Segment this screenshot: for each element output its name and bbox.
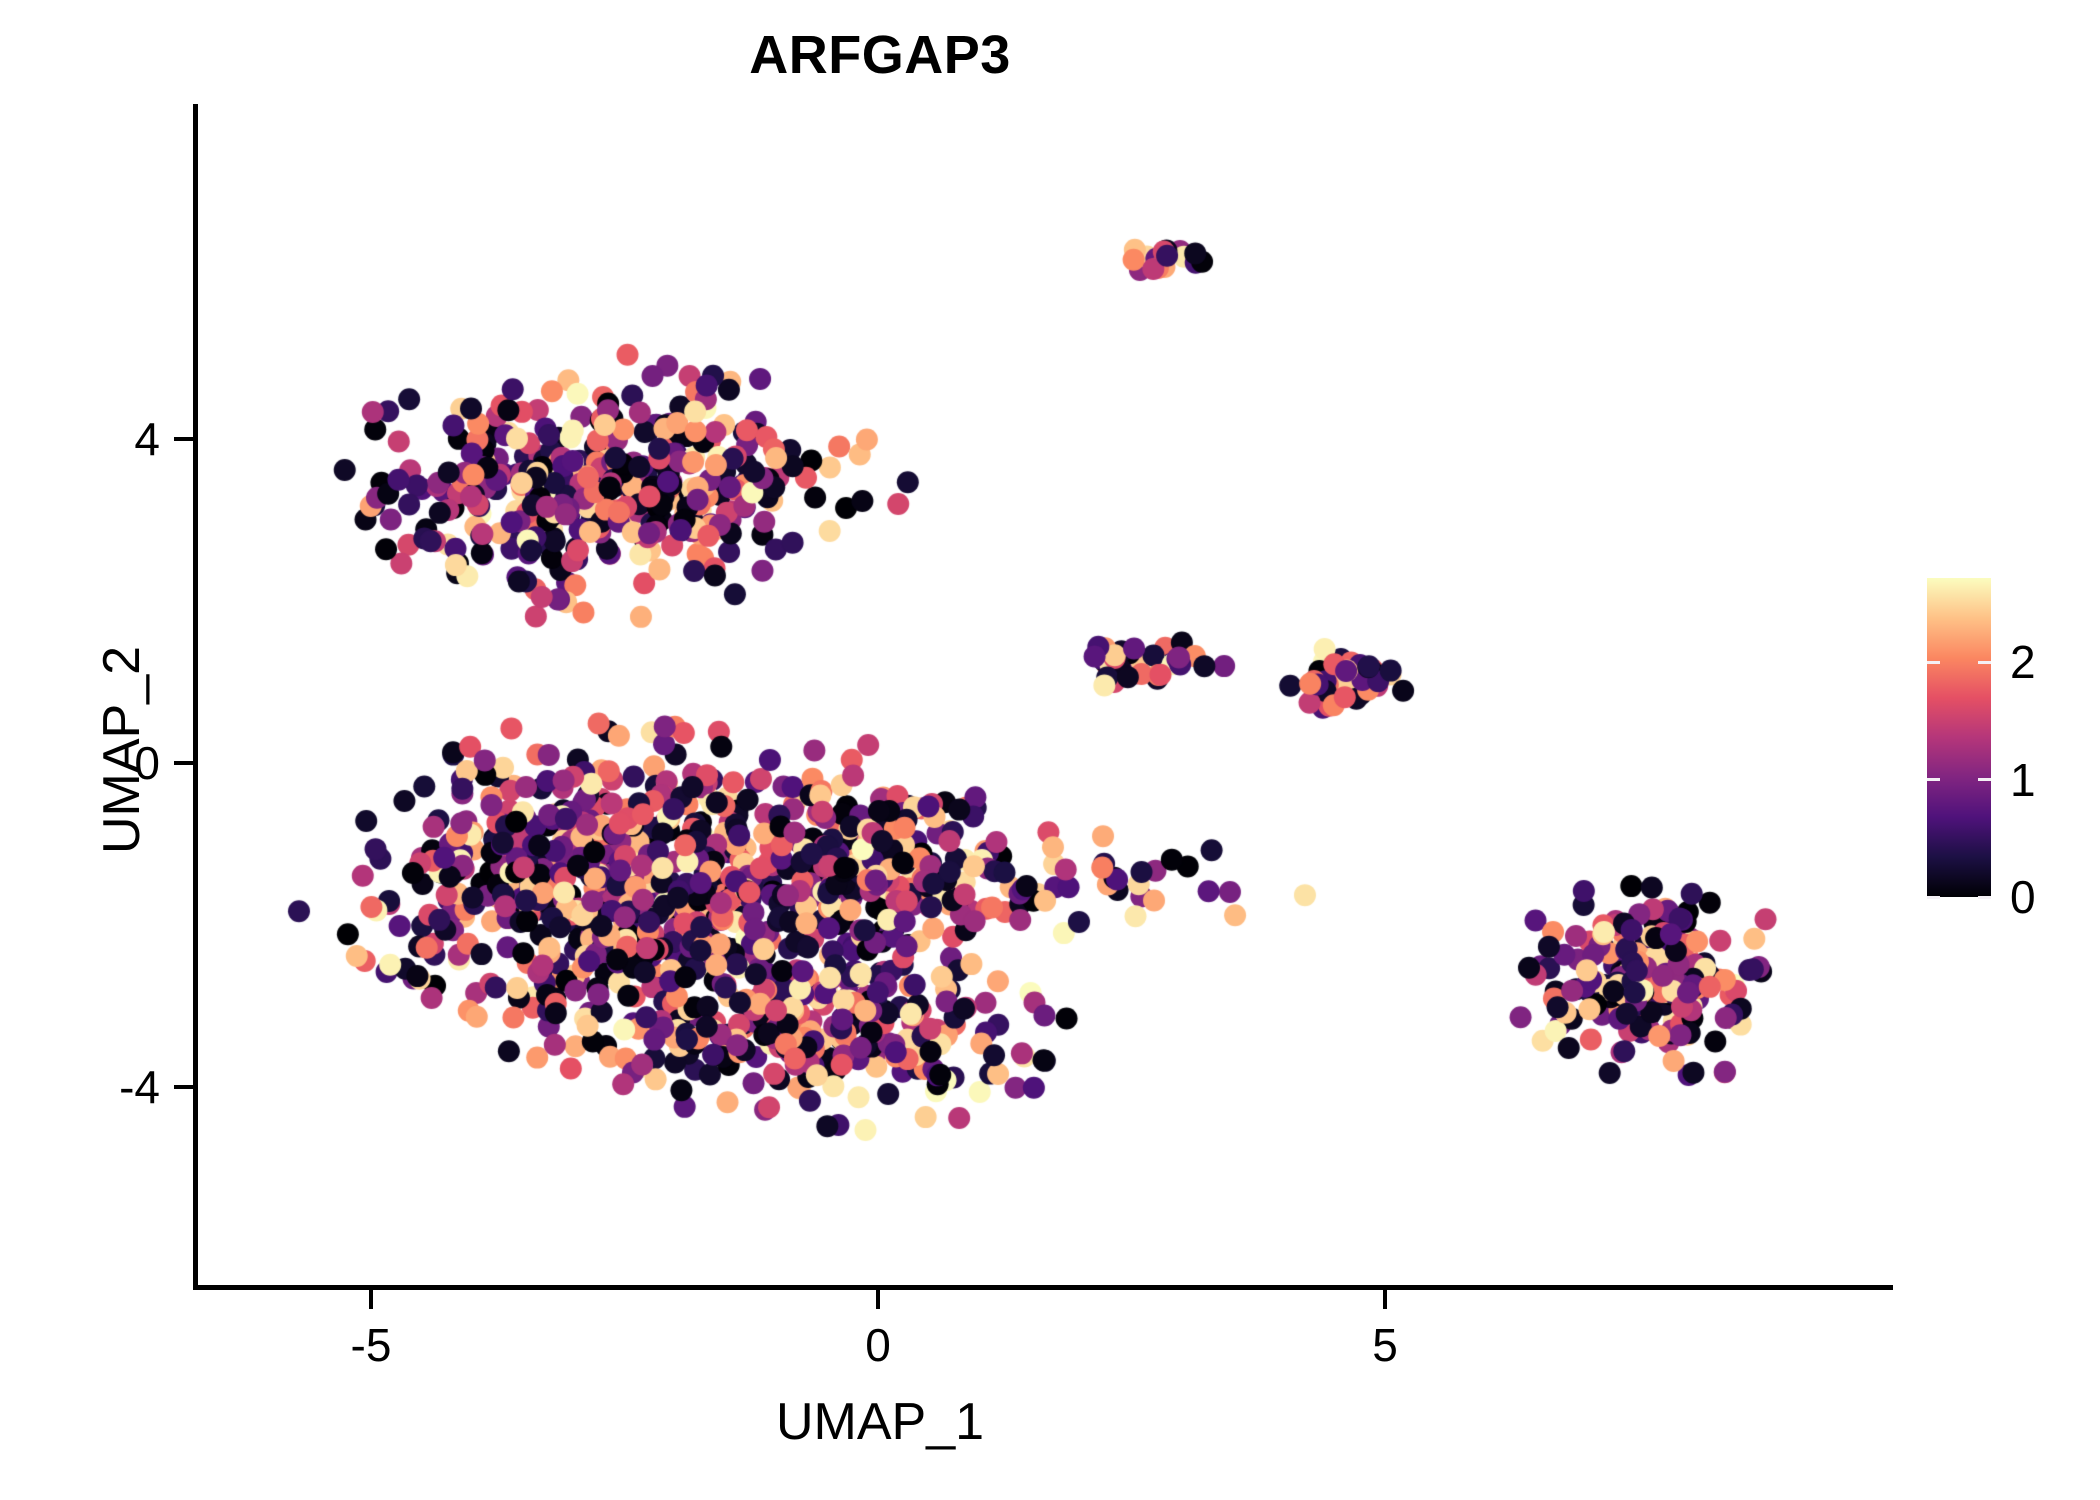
x-axis-line xyxy=(193,1285,1893,1290)
colorbar-tick-mark xyxy=(1978,778,1991,781)
colorbar-tick-label: 1 xyxy=(2010,753,2036,807)
y-axis-title: UMAP_2 xyxy=(92,646,152,854)
x-tick-mark xyxy=(876,1290,880,1309)
x-tick-mark xyxy=(1383,1290,1387,1309)
y-tick-label: 4 xyxy=(134,412,160,466)
x-tick-label: 0 xyxy=(865,1318,891,1372)
y-tick-mark xyxy=(174,437,193,441)
colorbar-tick-label: 2 xyxy=(2010,635,2036,689)
y-axis-line xyxy=(193,104,198,1289)
umap-feature-plot: ARFGAP3 -505 -404 UMAP_1 UMAP_2 012 xyxy=(0,0,2100,1500)
x-tick-label: -5 xyxy=(351,1318,392,1372)
scatter-points-layer xyxy=(0,0,2100,1500)
colorbar xyxy=(1927,578,1991,897)
colorbar-tick-label: 0 xyxy=(2010,870,2036,924)
colorbar-gradient xyxy=(1927,578,1991,897)
y-tick-mark xyxy=(174,761,193,765)
colorbar-tick-mark xyxy=(1927,661,1940,664)
page-title: ARFGAP3 xyxy=(0,24,1760,86)
colorbar-tick-mark xyxy=(1978,896,1991,899)
y-tick-mark xyxy=(174,1085,193,1089)
x-tick-label: 5 xyxy=(1372,1318,1398,1372)
colorbar-tick-mark xyxy=(1927,778,1940,781)
x-axis-title: UMAP_1 xyxy=(0,1392,1760,1452)
y-tick-label: -4 xyxy=(119,1060,160,1114)
colorbar-tick-mark xyxy=(1927,896,1940,899)
colorbar-tick-mark xyxy=(1978,661,1991,664)
x-tick-mark xyxy=(369,1290,373,1309)
